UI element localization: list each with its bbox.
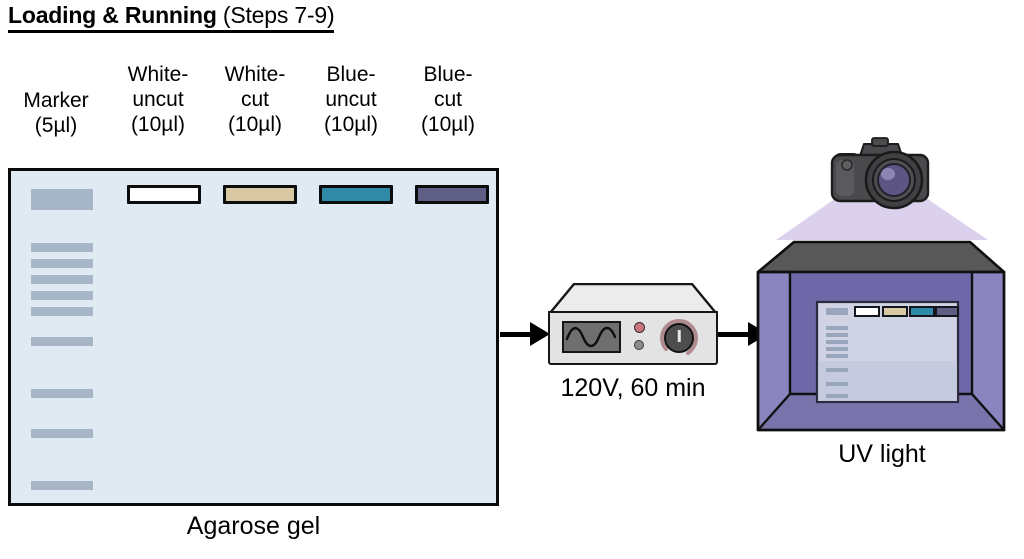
mini-band (826, 347, 848, 351)
ladder-band (31, 259, 93, 268)
mini-band (826, 333, 848, 337)
power-led-gray-icon (634, 340, 644, 350)
uv-box-lid (758, 242, 1004, 272)
lane-label-white-uncut: White- uncut (10µl) (106, 62, 210, 137)
mini-band (826, 368, 848, 372)
voltage-knob[interactable] (658, 317, 700, 359)
mini-band (826, 394, 848, 398)
knob-pointer-icon (678, 330, 681, 342)
camera-icon (832, 138, 928, 208)
ladder-band (31, 337, 93, 346)
ladder-band (31, 481, 93, 490)
lane-label-white-cut: White- cut (10µl) (203, 62, 307, 137)
lane-label-white-uncut-line1: White- (106, 62, 210, 87)
agarose-gel (8, 168, 499, 506)
lane-label-white-cut-line1: White- (203, 62, 307, 87)
uv-light-caption: UV light (748, 440, 1016, 469)
mini-band (826, 382, 848, 386)
agarose-gel-caption: Agarose gel (8, 512, 499, 541)
lane-label-white-uncut-line2: uncut (106, 87, 210, 112)
mini-well-white-uncut (855, 307, 879, 316)
lane-label-marker-line2: Marker (0, 88, 112, 113)
lane-label-blue-uncut-line2: uncut (299, 87, 403, 112)
lane-label-blue-uncut: Blue- uncut (10µl) (299, 62, 403, 137)
power-led-red-icon (634, 322, 645, 333)
mini-band (826, 326, 848, 330)
page-title: Loading & Running (Steps 7-9) (8, 2, 334, 33)
power-supply-top-panel (548, 283, 718, 314)
ladder-band (31, 275, 93, 284)
title-sub-text: (Steps 7-9) (223, 2, 335, 28)
well-blue-cut (415, 185, 489, 204)
ladder-band (31, 389, 93, 398)
power-supply-display (562, 321, 621, 353)
ladder-band (31, 429, 93, 438)
lane-label-blue-cut: Blue- cut (10µl) (396, 62, 500, 137)
uv-box-graphic (748, 130, 1016, 450)
lane-label-white-cut-line2: cut (203, 87, 307, 112)
mini-well-white-cut (883, 307, 907, 316)
diagram-canvas: Loading & Running (Steps 7-9) Marker (5µ… (0, 0, 1024, 559)
mini-band (826, 308, 848, 315)
lane-label-marker-line3: (5µl) (0, 113, 112, 138)
ladder-band (31, 291, 93, 300)
lane-label-white-cut-line3: (10µl) (203, 112, 307, 137)
ladder-band (31, 243, 93, 252)
lane-label-blue-uncut-line1: Blue- (299, 62, 403, 87)
lane-label-blue-cut-line3: (10µl) (396, 112, 500, 137)
knob-body (664, 323, 694, 353)
mini-well-blue-cut (936, 307, 958, 316)
mini-well-blue-uncut (910, 307, 934, 316)
lane-label-blue-cut-line1: Blue- (396, 62, 500, 87)
well-white-cut (223, 185, 297, 204)
ladder-band (31, 307, 93, 316)
well-blue-uncut (319, 185, 393, 204)
waveform-icon (564, 323, 619, 351)
arrow-gel-to-power-supply (500, 322, 550, 346)
title-main-text: Loading & Running (8, 2, 223, 28)
lane-label-blue-cut-line2: cut (396, 87, 500, 112)
lane-label-marker: Marker (5µl) (0, 88, 112, 138)
lane-label-white-uncut-line3: (10µl) (106, 112, 210, 137)
mini-band (826, 340, 848, 344)
marker-well (31, 189, 93, 210)
well-white-uncut (127, 185, 201, 204)
lane-label-blue-uncut-line3: (10µl) (299, 112, 403, 137)
power-supply-caption: 120V, 60 min (520, 374, 746, 403)
uv-light-box (748, 130, 1016, 450)
power-supply (548, 283, 718, 365)
mini-band (826, 354, 848, 358)
